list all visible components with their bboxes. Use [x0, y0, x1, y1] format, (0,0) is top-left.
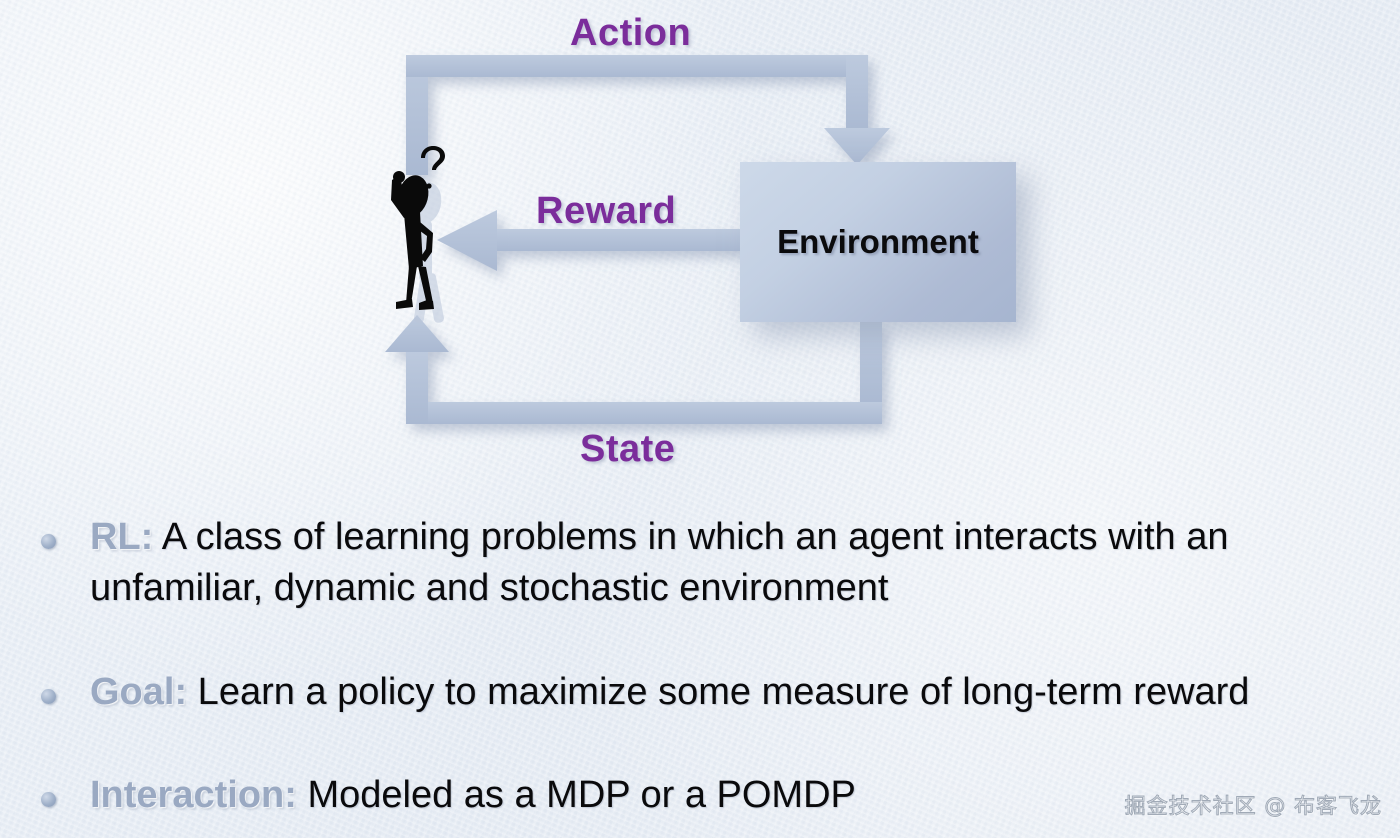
reward-label: Reward — [536, 190, 676, 233]
bullet-text-goal: Goal: Learn a policy to maximize some me… — [90, 667, 1370, 718]
bullet-marker-icon — [41, 792, 56, 807]
rl-loop-arrows-svg — [0, 0, 1400, 500]
state-label: State — [580, 428, 675, 471]
bullet-item-goal: Goal: Learn a policy to maximize some me… — [0, 667, 1400, 718]
bullet-lead-goal: Goal: — [90, 671, 187, 713]
action-label: Action — [570, 12, 691, 55]
bullet-lead-rl: RL: — [90, 516, 153, 558]
state-arrow-shape — [385, 315, 882, 424]
bullet-marker-icon — [41, 689, 56, 704]
bullet-body-rl: A class of learning problems in which an… — [90, 516, 1228, 609]
bullet-list: RL: A class of learning problems in whic… — [0, 512, 1400, 821]
environment-label: Environment — [777, 223, 979, 261]
environment-box: Environment — [740, 162, 1016, 322]
bullet-lead-interaction: Interaction: — [90, 774, 297, 816]
bullet-body-interaction: Modeled as a MDP or a POMDP — [297, 774, 856, 816]
watermark-text: 掘金技术社区 @ 布客飞龙 — [1125, 790, 1382, 820]
bullet-item-rl: RL: A class of learning problems in whic… — [0, 512, 1400, 614]
action-arrow-shape — [406, 55, 890, 175]
rl-loop-diagram: Environment Action Reward State — [0, 0, 1400, 500]
bullet-body-goal: Learn a policy to maximize some measure … — [187, 671, 1249, 713]
bullet-text-rl: RL: A class of learning problems in whic… — [90, 512, 1370, 614]
slide-canvas: Environment Action Reward State RL: A cl… — [0, 0, 1400, 838]
bullet-marker-icon — [41, 534, 56, 549]
